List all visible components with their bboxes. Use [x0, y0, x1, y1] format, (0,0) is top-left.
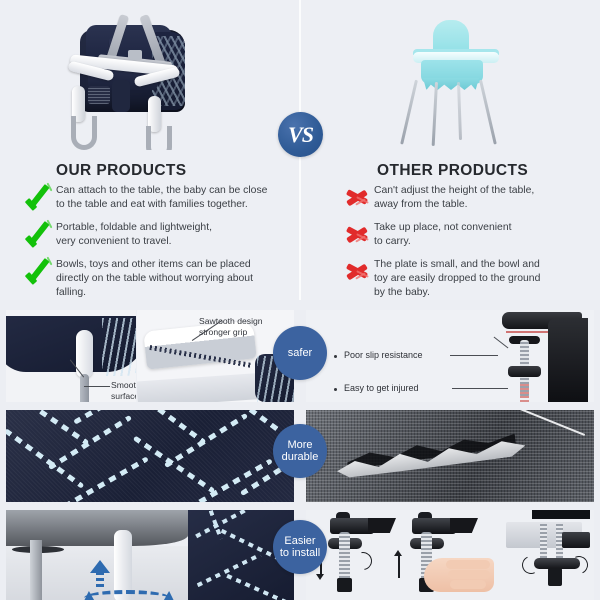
benefit-text: Can attach to the table, the baby can be…: [56, 183, 267, 211]
check-icon: [22, 221, 56, 247]
our-products-benefit-list: Can attach to the table, the baby can be…: [22, 183, 272, 308]
drawback-text: Take up place, not convenient to carry.: [374, 220, 511, 248]
list-item: The plate is small, and the bowl and toy…: [340, 257, 590, 299]
comparison-section: OUR PRODUCTS OTHER PRODUCTS Can attach t…: [0, 0, 600, 300]
vs-badge-label: VS: [288, 122, 313, 148]
plastic-high-chair-illustration: [399, 20, 511, 142]
list-item: Portable, foldable and lightweight, very…: [22, 220, 272, 248]
benefit-text: Bowls, toys and other items can be place…: [56, 257, 253, 299]
list-item: Bowls, toys and other items can be place…: [22, 257, 272, 299]
poor-slip-resistance-label: Poor slip resistance: [344, 350, 423, 360]
up-arrow-icon: [90, 560, 110, 573]
other-product-photo: [301, 0, 600, 150]
durable-fabric-photo: [6, 410, 294, 502]
smooth-surface-photo: Smooth surface: [6, 310, 136, 402]
cross-icon: [340, 184, 374, 210]
drawback-text: Can't adjust the height of the table, aw…: [374, 183, 534, 211]
sawtooth-design-label: Sawtooth design stronger grip: [199, 316, 263, 337]
list-item: Can attach to the table, the baby can be…: [22, 183, 272, 211]
feature-row-install: Easier to install: [0, 500, 600, 600]
other-product-detail-panel: Poor slip resistance Easy to get injured: [306, 310, 594, 402]
badge-easier-to-install: Easier to install: [273, 520, 327, 574]
our-products-heading: OUR PRODUCTS: [56, 162, 187, 180]
drawback-text: The plate is small, and the bowl and toy…: [374, 257, 540, 299]
sawtooth-design-photo: Sawtooth design stronger grip: [137, 310, 294, 402]
feature-rows: Smooth surface Sawtooth design stronger …: [0, 300, 600, 600]
check-icon: [22, 184, 56, 210]
feature-row-durable: More durable: [0, 400, 600, 500]
easy-install-photo: [6, 510, 294, 600]
smooth-surface-label: Smooth surface: [111, 380, 136, 401]
cross-icon: [340, 221, 374, 247]
benefit-text: Portable, foldable and lightweight, very…: [56, 220, 212, 248]
easy-to-get-injured-label: Easy to get injured: [344, 383, 419, 393]
torn-fabric-photo: [306, 410, 594, 502]
our-product-photo: [0, 0, 299, 150]
badge-more-durable: More durable: [273, 424, 327, 478]
hook-on-booster-seat-illustration: [52, 8, 207, 146]
feature-row-safer: Smooth surface Sawtooth design stronger …: [0, 300, 600, 400]
other-products-heading: OTHER PRODUCTS: [377, 162, 528, 180]
vs-badge: VS: [278, 112, 323, 157]
badge-safer: safer: [273, 326, 327, 380]
check-icon: [22, 258, 56, 284]
hand-illustration: [424, 558, 494, 592]
cross-icon: [340, 258, 374, 284]
infographic-page: OUR PRODUCTS OTHER PRODUCTS Can attach t…: [0, 0, 600, 600]
other-products-drawback-list: Can't adjust the height of the table, aw…: [340, 183, 590, 308]
list-item: Take up place, not convenient to carry.: [340, 220, 590, 248]
clamp-install-steps-photo: [306, 510, 594, 600]
list-item: Can't adjust the height of the table, aw…: [340, 183, 590, 211]
our-product-detail-panel: Smooth surface Sawtooth design stronger …: [6, 310, 294, 402]
rotate-arrow-icon: [84, 590, 170, 600]
